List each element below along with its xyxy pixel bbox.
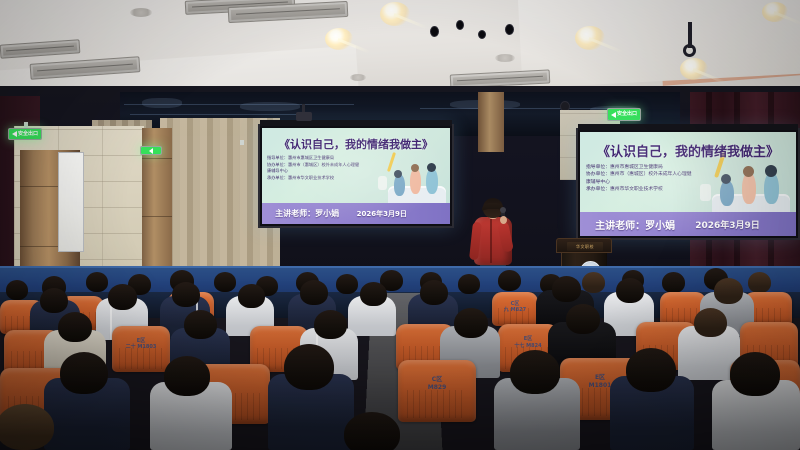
right-slide-title: 《认识自己，我的情绪我做主》: [589, 141, 788, 160]
projector: [296, 112, 312, 121]
slide-illustration: [374, 150, 448, 208]
exit-sign-right-label: 安全出口: [617, 112, 637, 117]
ceiling-spotlight: [575, 26, 605, 50]
slide-body-line: 承办单位：惠州市华文职业技术学校: [586, 186, 692, 193]
screen-roller-bar: [260, 120, 452, 126]
right-slide-body: 指导单位：惠州市惠城区卫生健康局 协办单位：惠州市（惠城区）校外未成年人心理健 …: [586, 164, 692, 194]
slide-person: [394, 170, 402, 178]
ceiling-spotlight: [325, 28, 353, 50]
stage-rig-light: [456, 20, 464, 30]
exit-sign-left[interactable]: 安全出口: [8, 128, 42, 140]
seat[interactable]: C区M829: [398, 360, 476, 422]
left-projection-screen[interactable]: 《认识自己，我的情绪我做主》 指导单位：惠州市惠城区卫生健康局 协办单位：惠州市…: [258, 124, 454, 228]
audience-head: [420, 280, 448, 305]
screen-roller-bar: [578, 124, 798, 130]
slide-body-line: 承办单位：惠州市华文职业技术学校: [267, 175, 359, 182]
exit-sign-mount: [240, 140, 244, 145]
ceiling-recess: [130, 8, 152, 17]
audience-head: [510, 350, 560, 394]
audience-head: [566, 304, 600, 334]
exit-sign-right[interactable]: 安全出口: [607, 108, 641, 121]
audience-head: [108, 284, 137, 310]
audience-head: [458, 274, 480, 294]
slide-person: [765, 165, 777, 177]
left-slide-title: 《认识自己，我的情绪我做主》: [270, 136, 443, 152]
audience-head: [730, 352, 780, 396]
audience-head: [300, 280, 328, 305]
audience-head: [6, 280, 28, 300]
audience-head: [748, 272, 771, 293]
ceiling-spotlight: [680, 58, 708, 80]
audience-head: [40, 288, 68, 313]
exit-sign-left-label: 安全出口: [18, 132, 38, 137]
audience-head: [344, 412, 400, 450]
slide-body-line: 指导单位：惠州市惠城区卫生健康局: [586, 164, 692, 171]
right-slide-footer: 主讲老师：罗小娟 2026年3月9日: [580, 212, 796, 236]
ceiling-spotlight: [762, 2, 788, 22]
audience-head: [662, 272, 685, 293]
ceiling-right-panel: [518, 0, 800, 88]
ceiling-hook-loop: [683, 44, 696, 57]
audience-head: [626, 348, 676, 392]
left-slide: 《认识自己，我的情绪我做主》 指导单位：惠州市惠城区卫生健康局 协办单位：惠州市…: [262, 128, 450, 224]
audience-head: [58, 312, 92, 342]
seat[interactable]: E区二十 M1803: [112, 326, 170, 372]
audience-head: [86, 272, 108, 292]
slide-person: [743, 166, 754, 177]
audience-head: [454, 308, 488, 338]
audience-head: [214, 272, 236, 292]
audience-head: [714, 278, 743, 304]
audience-head: [336, 274, 358, 294]
left-slide-body: 指导单位：惠州市惠城区卫生健康局 协办单位：惠州市（惠城区）校外未成年人心理健 …: [267, 155, 359, 181]
stage-rig-light: [430, 26, 439, 37]
lectern-plaque: 华文职校: [567, 242, 603, 251]
left-slide-footer: 主讲老师：罗小娟 2026年3月9日: [262, 203, 450, 224]
right-projection-screen[interactable]: 《认识自己，我的情绪我做主》 指导单位：惠州市惠城区卫生健康局 协办单位：惠州市…: [576, 128, 800, 240]
audience-head: [314, 310, 347, 339]
lectern-plaque-text: 华文职校: [576, 244, 594, 250]
right-slide-date: 2026年3月9日: [695, 218, 760, 231]
wall-board-left: [58, 152, 84, 252]
audience-head: [184, 310, 217, 339]
ceiling-recess: [350, 74, 366, 81]
right-slide-speaker: 主讲老师：罗小娟: [595, 217, 675, 232]
ceiling-spotlight: [380, 2, 410, 26]
slide-body-line: 康辅导中心: [586, 179, 692, 186]
exit-sign-stage[interactable]: [140, 146, 162, 155]
ceiling-recess: [495, 54, 515, 62]
left-slide-date: 2026年3月9日: [357, 209, 407, 219]
stage-rig-light: [505, 24, 514, 35]
audience-head: [360, 282, 387, 306]
audience-head: [616, 278, 644, 303]
audience-head: [284, 344, 334, 390]
audience-head: [694, 308, 727, 337]
slide-person: [427, 163, 436, 172]
audience-head: [238, 284, 265, 308]
column-stage-right: [478, 92, 504, 152]
right-slide: 《认识自己，我的情绪我做主》 指导单位：惠州市惠城区卫生健康局 协办单位：惠州市…: [580, 132, 796, 236]
lectern-top: 华文职校: [556, 238, 612, 253]
slide-person: [411, 164, 419, 172]
left-slide-speaker: 主讲老师：罗小娟: [275, 208, 339, 219]
audience-head: [0, 404, 54, 450]
audience-head: [582, 272, 605, 293]
audience-head: [60, 352, 108, 394]
audience-head: [552, 276, 581, 302]
slide-body-line: 协办单位：惠州市（惠城区）校外未成年人心理健: [586, 171, 692, 178]
audience-head: [164, 356, 210, 396]
slide-lamp: [700, 184, 711, 201]
microphone-head: [500, 207, 506, 213]
audience-head: [172, 282, 200, 307]
presenter-hand: [500, 216, 507, 224]
auditorium-photo: 安全出口 安全出口 《认识自己，我: [0, 0, 800, 450]
slide-illustration: [696, 152, 792, 218]
slide-accent-stroke: [387, 152, 396, 172]
slide-lamp: [378, 176, 387, 190]
stage-rig-light: [478, 30, 486, 39]
slide-person: [721, 174, 731, 184]
audience-head: [498, 270, 521, 291]
seat[interactable]: C区九 M827: [492, 292, 538, 326]
presenter-jacket-placket: [490, 219, 492, 263]
